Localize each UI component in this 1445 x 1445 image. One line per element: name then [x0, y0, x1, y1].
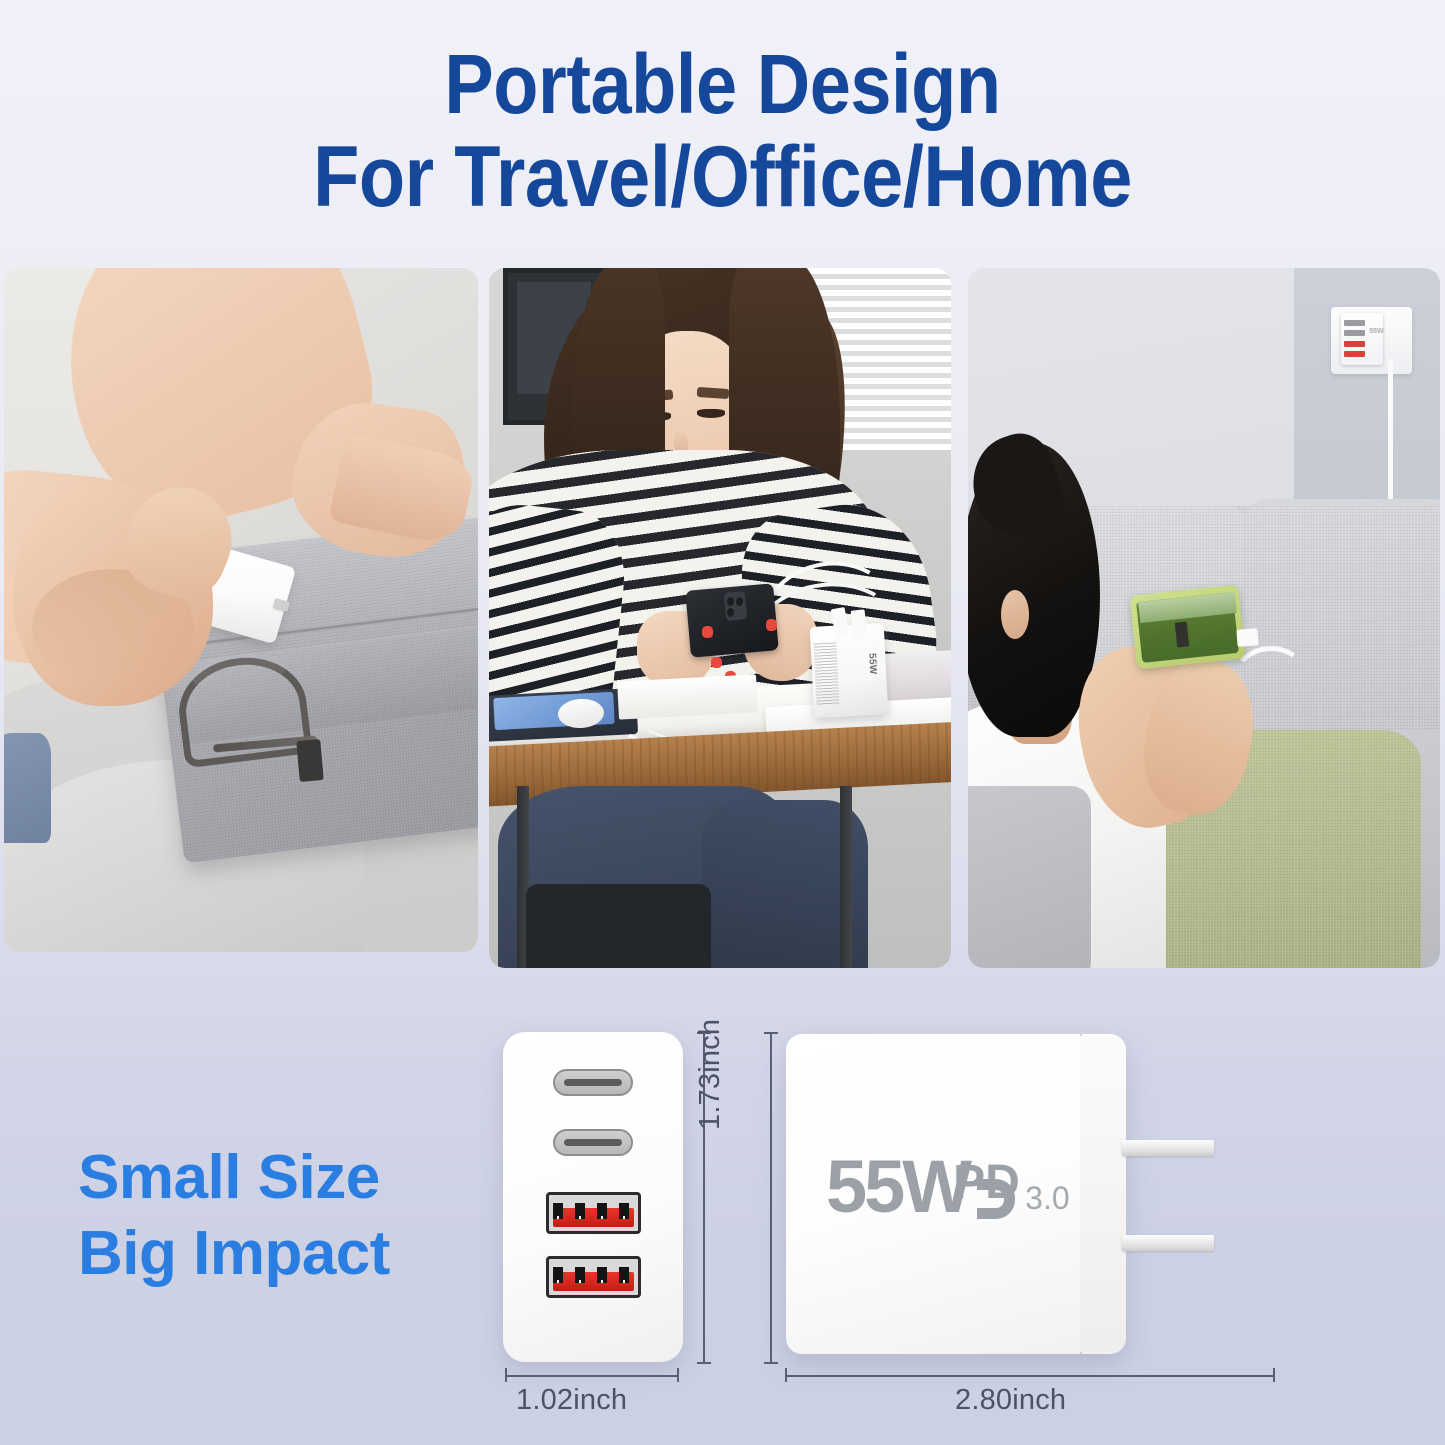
headline-line-2: For Travel/Office/Home: [87, 134, 1359, 222]
depth-dimension-cap-right: [1273, 1368, 1275, 1382]
photo-jeans: [4, 733, 51, 842]
tagline-line-2: Big Impact: [78, 1216, 390, 1292]
product-marketing-page: Portable Design For Travel/Office/Home: [0, 0, 1445, 1445]
photo-charger-port-usba-2: [1344, 351, 1366, 357]
width-dimension-cap-right: [677, 1368, 679, 1382]
photo-zipper-pull: [296, 739, 323, 782]
ac-prong-2: [1122, 1235, 1214, 1251]
depth-dimension-line: [785, 1375, 1275, 1377]
photo-charger-side-label: 55W: [1369, 328, 1383, 335]
usb-c-port-1: [553, 1069, 633, 1096]
usb-a-contacts: [553, 1216, 634, 1219]
height-dimension-cap-top-right: [764, 1032, 778, 1034]
usb-c-port-2: [553, 1129, 633, 1156]
photo-sofa-armrest: [968, 786, 1091, 968]
product-front-view: [503, 1032, 683, 1362]
page-title: Portable Design For Travel/Office/Home: [0, 42, 1445, 221]
photo-eye-right: [697, 409, 725, 417]
photo-cable-plug-2: [850, 609, 867, 638]
product-end-cap: [1080, 1036, 1126, 1352]
usb-a-contacts: [553, 1280, 634, 1283]
headline-line-1: Portable Design: [87, 42, 1359, 128]
depth-dimension-cap-left: [785, 1368, 787, 1382]
width-dimension-label: 1.02inch: [516, 1384, 627, 1417]
tagline: Small Size Big Impact: [78, 1140, 390, 1291]
photo-charger-packed-in-laptop-bag: [4, 268, 478, 952]
usb-a-port-2: [546, 1256, 641, 1298]
pd-version-label: 3.0: [1025, 1180, 1069, 1217]
depth-dimension-label: 2.80inch: [955, 1384, 1066, 1417]
photo-game-character: [1174, 621, 1189, 647]
height-dimension-cap-bottom-right: [764, 1362, 778, 1364]
product-branding: 55W PD 3.0: [826, 1154, 1070, 1221]
photo-charger-port-usbc-2: [1344, 330, 1366, 336]
photo-desk-leg-right: [840, 786, 852, 968]
photo-phone-camera-module: [723, 591, 746, 621]
usb-a-port-1: [546, 1192, 641, 1234]
photo-phone-cable-plug: [1236, 628, 1258, 646]
photo-camera-lens-2: [736, 597, 743, 606]
pd-logo-mark: [977, 1179, 1015, 1219]
photo-fingernail-1: [702, 626, 713, 637]
photo-charger-port-usba-1: [1344, 341, 1366, 347]
pd-logo-icon: PD: [953, 1165, 1019, 1221]
photo-charger-port-usbc-1: [1344, 320, 1366, 326]
tagline-line-1: Small Size: [78, 1140, 390, 1216]
height-dimension-cap-bottom-left: [697, 1362, 711, 1364]
width-dimension-line: [505, 1375, 679, 1377]
photo-chair: [526, 884, 711, 968]
height-dimension-label: 1.73inch: [694, 1019, 727, 1130]
photo-woman-charging-phone-at-desk: 55W: [489, 268, 951, 968]
ac-prong-1: [1122, 1140, 1214, 1156]
photo-man-gaming-on-sofa: 55W: [968, 268, 1440, 968]
photo-fingernail-3: [766, 619, 777, 630]
width-dimension-cap-left: [505, 1368, 507, 1382]
height-dimension-line-right: [770, 1032, 772, 1364]
wattage-label: 55W: [826, 1154, 969, 1221]
